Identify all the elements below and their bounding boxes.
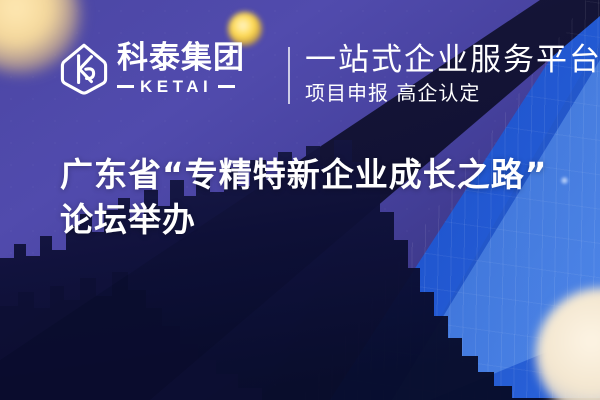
ketai-diamond-k-logo-icon — [60, 42, 108, 96]
brand-name-en-row: KETAI — [117, 78, 245, 95]
dash-right-icon — [218, 85, 235, 88]
headline-line-2: 论坛举办 — [60, 197, 570, 242]
dash-left-icon — [117, 85, 134, 88]
brand-name-cn: 科泰集团 — [117, 43, 245, 74]
vertical-divider — [288, 47, 290, 104]
brand-lockup: 科泰集团 KETAI — [60, 42, 245, 96]
headline-line-1: 广东省“专精特新企业成长之路” — [60, 152, 570, 197]
page-title: 广东省“专精特新企业成长之路” 论坛举办 — [60, 152, 570, 242]
tagline-main: 一站式企业服务平台 — [305, 42, 600, 78]
brand-name-en: KETAI — [140, 78, 212, 95]
brand-wordmark: 科泰集团 KETAI — [117, 43, 245, 95]
promo-banner: 科泰集团 KETAI 一站式企业服务平台 项目申报 高企认定 广东省“专精特新企… — [0, 0, 600, 400]
tagline-block: 一站式企业服务平台 项目申报 高企认定 — [305, 42, 600, 106]
tagline-sub: 项目申报 高企认定 — [305, 80, 600, 106]
